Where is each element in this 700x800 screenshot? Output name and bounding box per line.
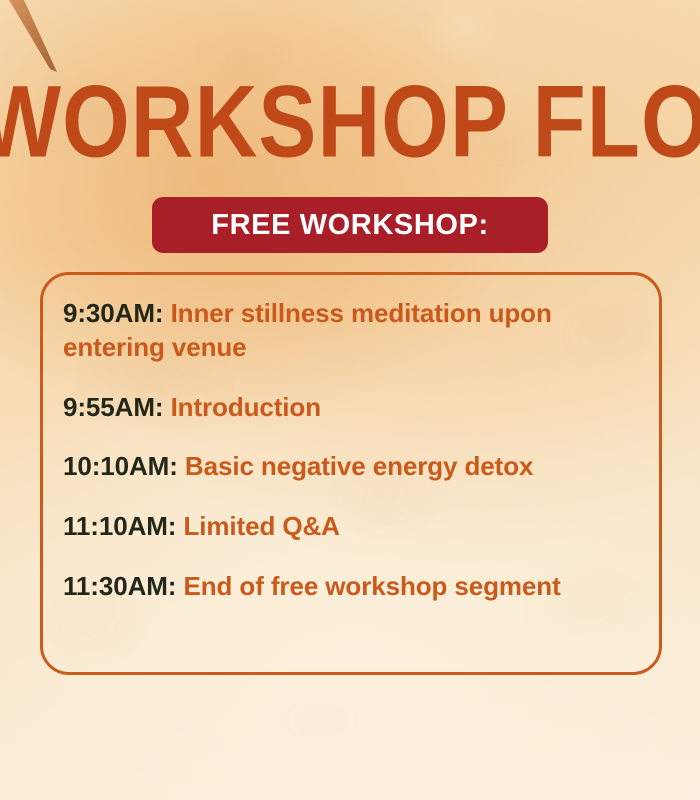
list-item: 11:10AM: Limited Q&A <box>63 510 639 544</box>
page-title: WORKSHOP FLOW <box>0 72 700 174</box>
schedule-time: 9:55AM: <box>63 392 163 422</box>
badge-label: FREE WORKSHOP: <box>211 211 488 240</box>
schedule-time: 9:30AM: <box>63 298 163 328</box>
list-item: 10:10AM: Basic negative energy detox <box>63 450 639 484</box>
schedule-list: 9:30AM: Inner stillness meditation upon … <box>40 272 662 675</box>
list-item: 9:30AM: Inner stillness meditation upon … <box>63 297 639 365</box>
schedule-time: 11:30AM: <box>63 571 176 601</box>
schedule-time: 10:10AM: <box>63 451 178 481</box>
status-badge: FREE WORKSHOP: <box>152 197 548 253</box>
list-item: 9:55AM: Introduction <box>63 391 639 425</box>
schedule-description: Introduction <box>171 392 321 422</box>
workshop-flow-poster: WORKSHOP FLOW FREE WORKSHOP: 9:30AM: Inn… <box>0 0 700 800</box>
list-item: 11:30AM: End of free workshop segment <box>63 570 639 604</box>
schedule-description: Limited Q&A <box>183 511 339 541</box>
schedule-time: 11:10AM: <box>63 511 176 541</box>
schedule-description: Basic negative energy detox <box>185 451 533 481</box>
schedule-description: End of free workshop segment <box>183 571 560 601</box>
